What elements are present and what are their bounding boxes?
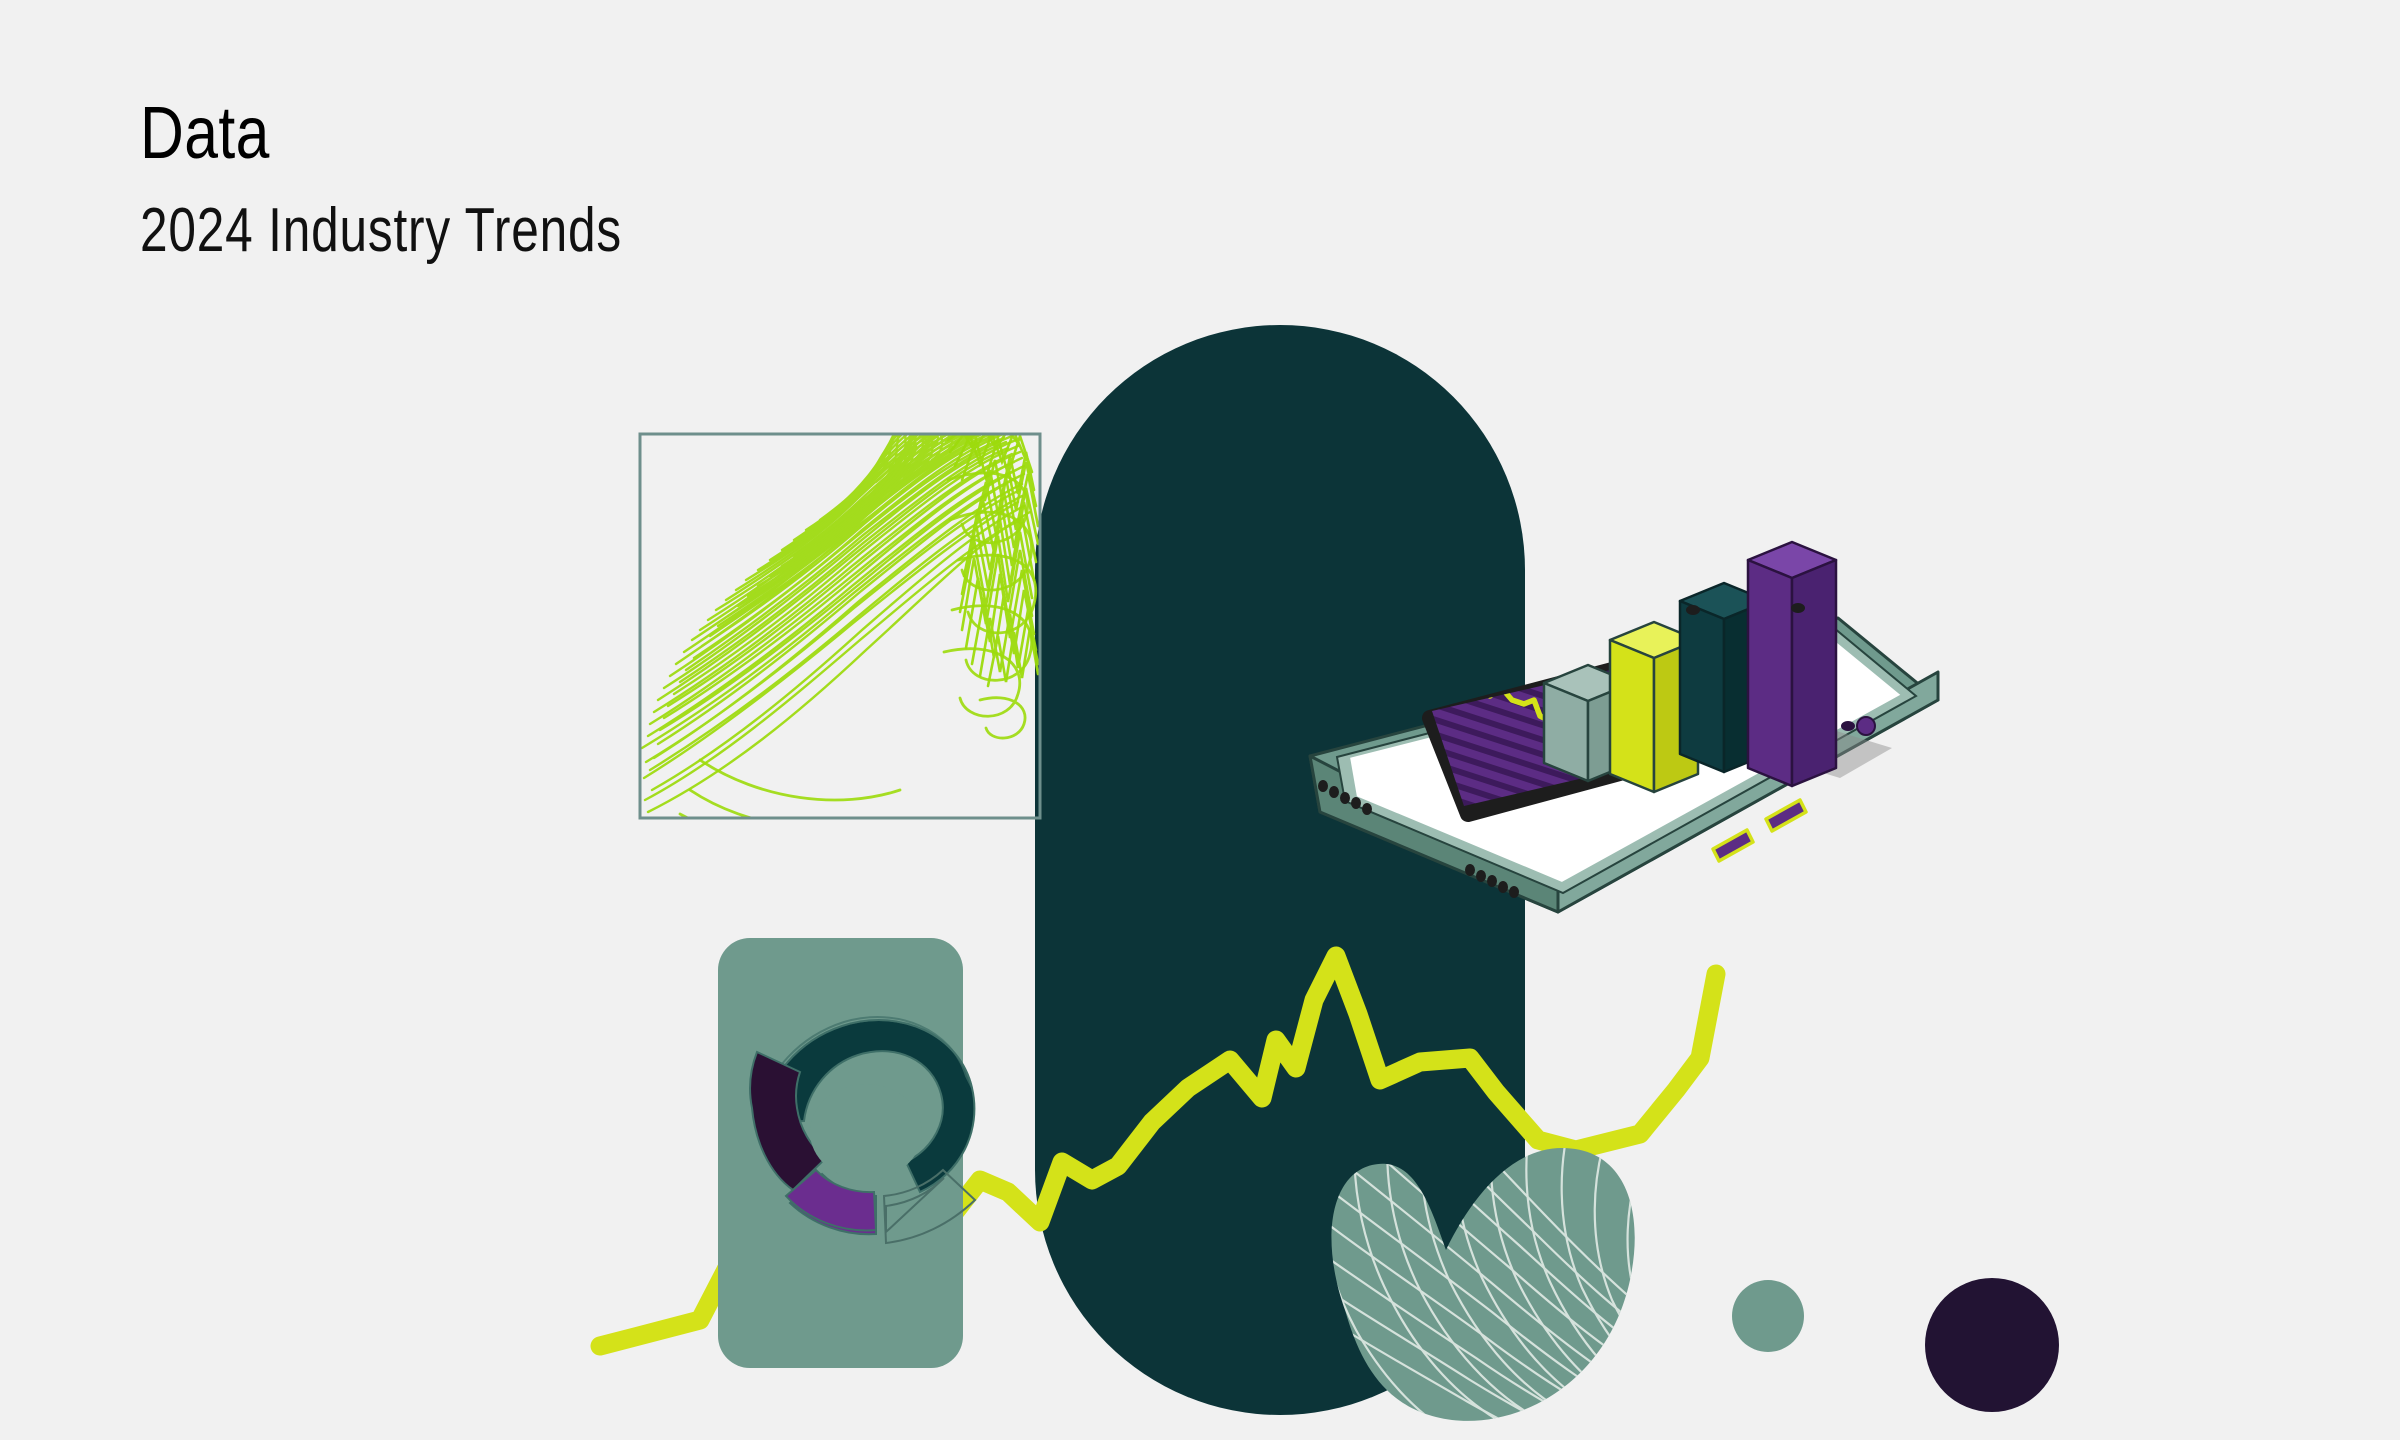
scribble-line-series: [642, 386, 1038, 855]
donut-chart-card: [718, 938, 975, 1368]
donut-hole: [810, 1084, 922, 1180]
bar-4: [1748, 542, 1836, 786]
page-title: Data: [140, 96, 634, 170]
page-subtitle: 2024 Industry Trends: [140, 200, 622, 262]
scribble-plot: [640, 386, 1040, 855]
poster-canvas: Data 2024 Industry Trends: [0, 0, 2400, 1440]
heading-block: Data 2024 Industry Trends: [140, 96, 742, 262]
isometric-bar-chart: [1544, 542, 1836, 792]
small-sage-dot: [1732, 1280, 1804, 1352]
large-dark-dot: [1925, 1278, 2059, 1412]
